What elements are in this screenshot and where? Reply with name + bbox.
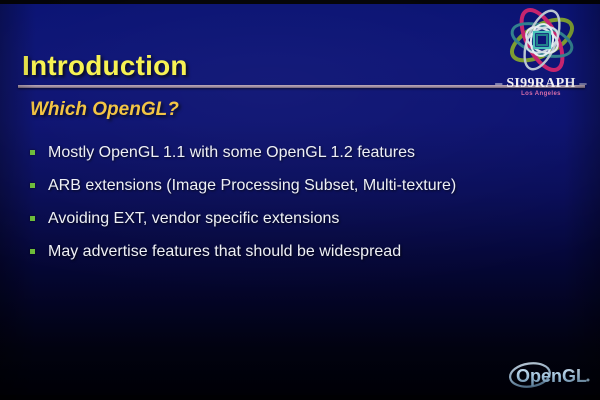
svg-text:OpenGL: OpenGL bbox=[516, 366, 587, 386]
opengl-logo: OpenGL bbox=[508, 358, 596, 392]
list-item: Mostly OpenGL 1.1 with some OpenGL 1.2 f… bbox=[28, 143, 573, 176]
siggraph-wordmark: – SI99RAPH – bbox=[487, 76, 595, 92]
bottom-border-band bbox=[0, 395, 600, 400]
bullet-list: Mostly OpenGL 1.1 with some OpenGL 1.2 f… bbox=[28, 143, 573, 275]
list-item: ARB extensions (Image Processing Subset,… bbox=[28, 176, 573, 209]
bullet-dot-icon bbox=[30, 216, 35, 221]
bullet-text: ARB extensions (Image Processing Subset,… bbox=[48, 176, 456, 196]
bullet-dot-icon bbox=[30, 249, 35, 254]
list-item: May advertise features that should be wi… bbox=[28, 242, 573, 275]
bullet-dot-icon bbox=[30, 150, 35, 155]
opengl-logo-icon: OpenGL bbox=[508, 358, 596, 392]
bullet-text: Avoiding EXT, vendor specific extensions bbox=[48, 209, 339, 229]
bullet-text: May advertise features that should be wi… bbox=[48, 242, 401, 262]
siggraph-city-label: Los Angeles bbox=[487, 91, 595, 97]
bullet-dot-icon bbox=[30, 183, 35, 188]
siggraph-logo: – SI99RAPH – Los Angeles bbox=[487, 6, 595, 102]
slide-subtitle: Which OpenGL? bbox=[30, 99, 179, 121]
slide-canvas: Introduction Which OpenGL? Mostly OpenGL… bbox=[0, 0, 600, 400]
bullet-text: Mostly OpenGL 1.1 with some OpenGL 1.2 f… bbox=[48, 143, 415, 163]
slide-title: Introduction bbox=[22, 50, 188, 82]
top-border-band bbox=[0, 0, 600, 4]
siggraph-rings-icon bbox=[501, 6, 583, 78]
list-item: Avoiding EXT, vendor specific extensions bbox=[28, 209, 573, 242]
